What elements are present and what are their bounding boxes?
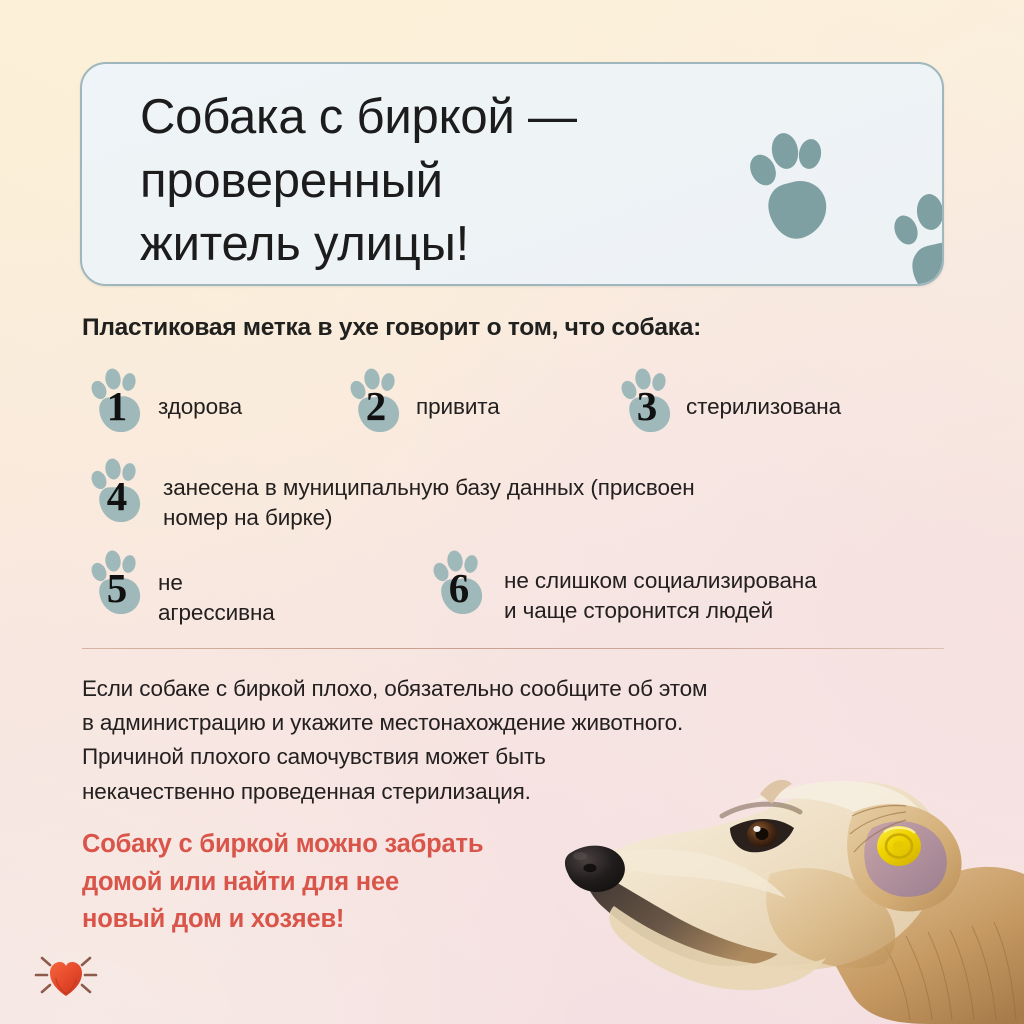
list-item-number: 2 [347,368,405,432]
list-item-number: 3 [618,368,676,432]
paw-print-icon: 1 [88,368,146,432]
list-item-label: привита [416,392,500,422]
paw-print-icon: 5 [88,550,146,614]
section-divider [82,648,944,649]
paw-print-icon: 2 [347,368,405,432]
list-item-label: не слишком социализирована и чаще сторон… [504,566,974,626]
paw-print-icon: 3 [618,368,676,432]
list-item-number: 6 [430,550,488,614]
paw-print-icon: 4 [88,458,146,522]
sparkling-heart-icon [30,946,102,1004]
list-item-number: 5 [88,550,146,614]
list-item-number: 1 [88,368,146,432]
paw-print-icon: 6 [430,550,488,614]
list-item-label: занесена в муниципальную базу данных (пр… [163,473,923,533]
body-paragraph: Если собаке с биркой плохо, обязательно … [82,672,882,809]
list-item-label: стерилизована [686,392,841,422]
callout-text: Собаку с биркой можно забрать домой или … [82,826,602,939]
list-item-number: 4 [88,458,146,522]
list-item-label: здорова [158,392,242,422]
list-item-label: не агрессивна [158,568,275,628]
